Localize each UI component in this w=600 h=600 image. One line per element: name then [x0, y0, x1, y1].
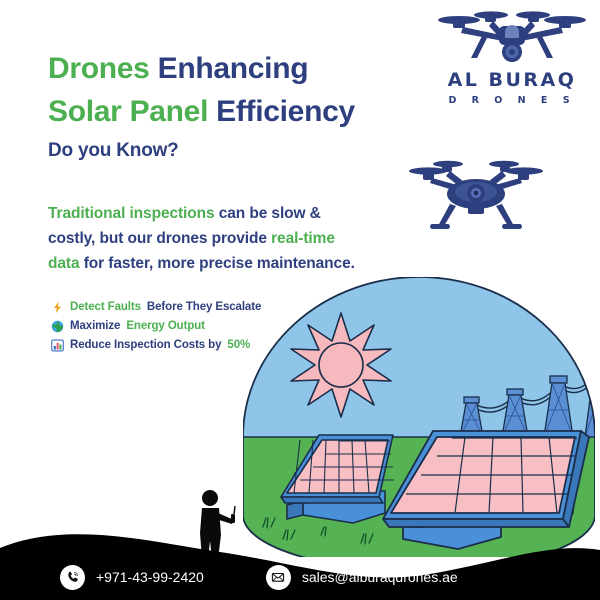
- drone-illustration: [408, 152, 544, 238]
- headline-line1-navy: Enhancing: [158, 52, 309, 85]
- email-address-text: sales@alburaqdrones.ae: [302, 569, 458, 585]
- bar-chart-icon: [50, 338, 64, 352]
- body-paragraph: Traditional inspections can be slow & co…: [48, 201, 368, 276]
- globe-icon: [50, 319, 64, 333]
- bullet-1-part1: Detect Faults: [70, 301, 141, 313]
- contact-phone[interactable]: +971-43-99-2420: [60, 565, 204, 590]
- benefits-list: Detect Faults Before They Escalate Maxim…: [50, 300, 261, 357]
- bullet-2-part2: Energy Output: [126, 320, 205, 332]
- headline-line2-navy: Efficiency: [216, 95, 355, 128]
- envelope-icon: [266, 565, 291, 590]
- list-item: Detect Faults Before They Escalate: [50, 300, 261, 314]
- sky-region: [243, 277, 595, 437]
- lightning-bolt-icon: [50, 300, 64, 314]
- logo-drone-icon: [437, 8, 587, 70]
- paragraph-segment-4: for faster, more precise maintenance.: [84, 255, 355, 272]
- list-item: Maximize Energy Output: [50, 319, 261, 333]
- logo-name: AL BURAQ: [432, 71, 592, 90]
- logo-subtitle: D R O N E S: [432, 95, 592, 106]
- subheading: Do you Know?: [48, 140, 179, 162]
- brand-logo[interactable]: AL BURAQ D R O N E S: [432, 8, 592, 118]
- page-title: Drones Enhancing Solar Panel Efficiency: [48, 48, 448, 133]
- headline-line2-green: Solar Panel: [48, 95, 216, 128]
- bullet-3-part1: Reduce Inspection Costs by: [70, 339, 221, 351]
- headline-line1-green: Drones: [48, 52, 158, 85]
- paragraph-segment-1: Traditional inspections: [48, 205, 219, 222]
- bullet-2-part1: Maximize: [70, 320, 120, 332]
- phone-icon: [60, 565, 85, 590]
- contact-email[interactable]: sales@alburaqdrones.ae: [266, 565, 458, 590]
- poster-canvas: AL BURAQ D R O N E S Drones Enhancing So…: [0, 0, 600, 600]
- bullet-1-part2: Before They Escalate: [147, 301, 261, 313]
- phone-number-text: +971-43-99-2420: [96, 569, 204, 585]
- footer-contact-bar: +971-43-99-2420 sales@alburaqdrones.ae: [0, 554, 600, 600]
- list-item: Reduce Inspection Costs by 50%: [50, 338, 261, 352]
- bullet-3-part2: 50%: [227, 339, 250, 351]
